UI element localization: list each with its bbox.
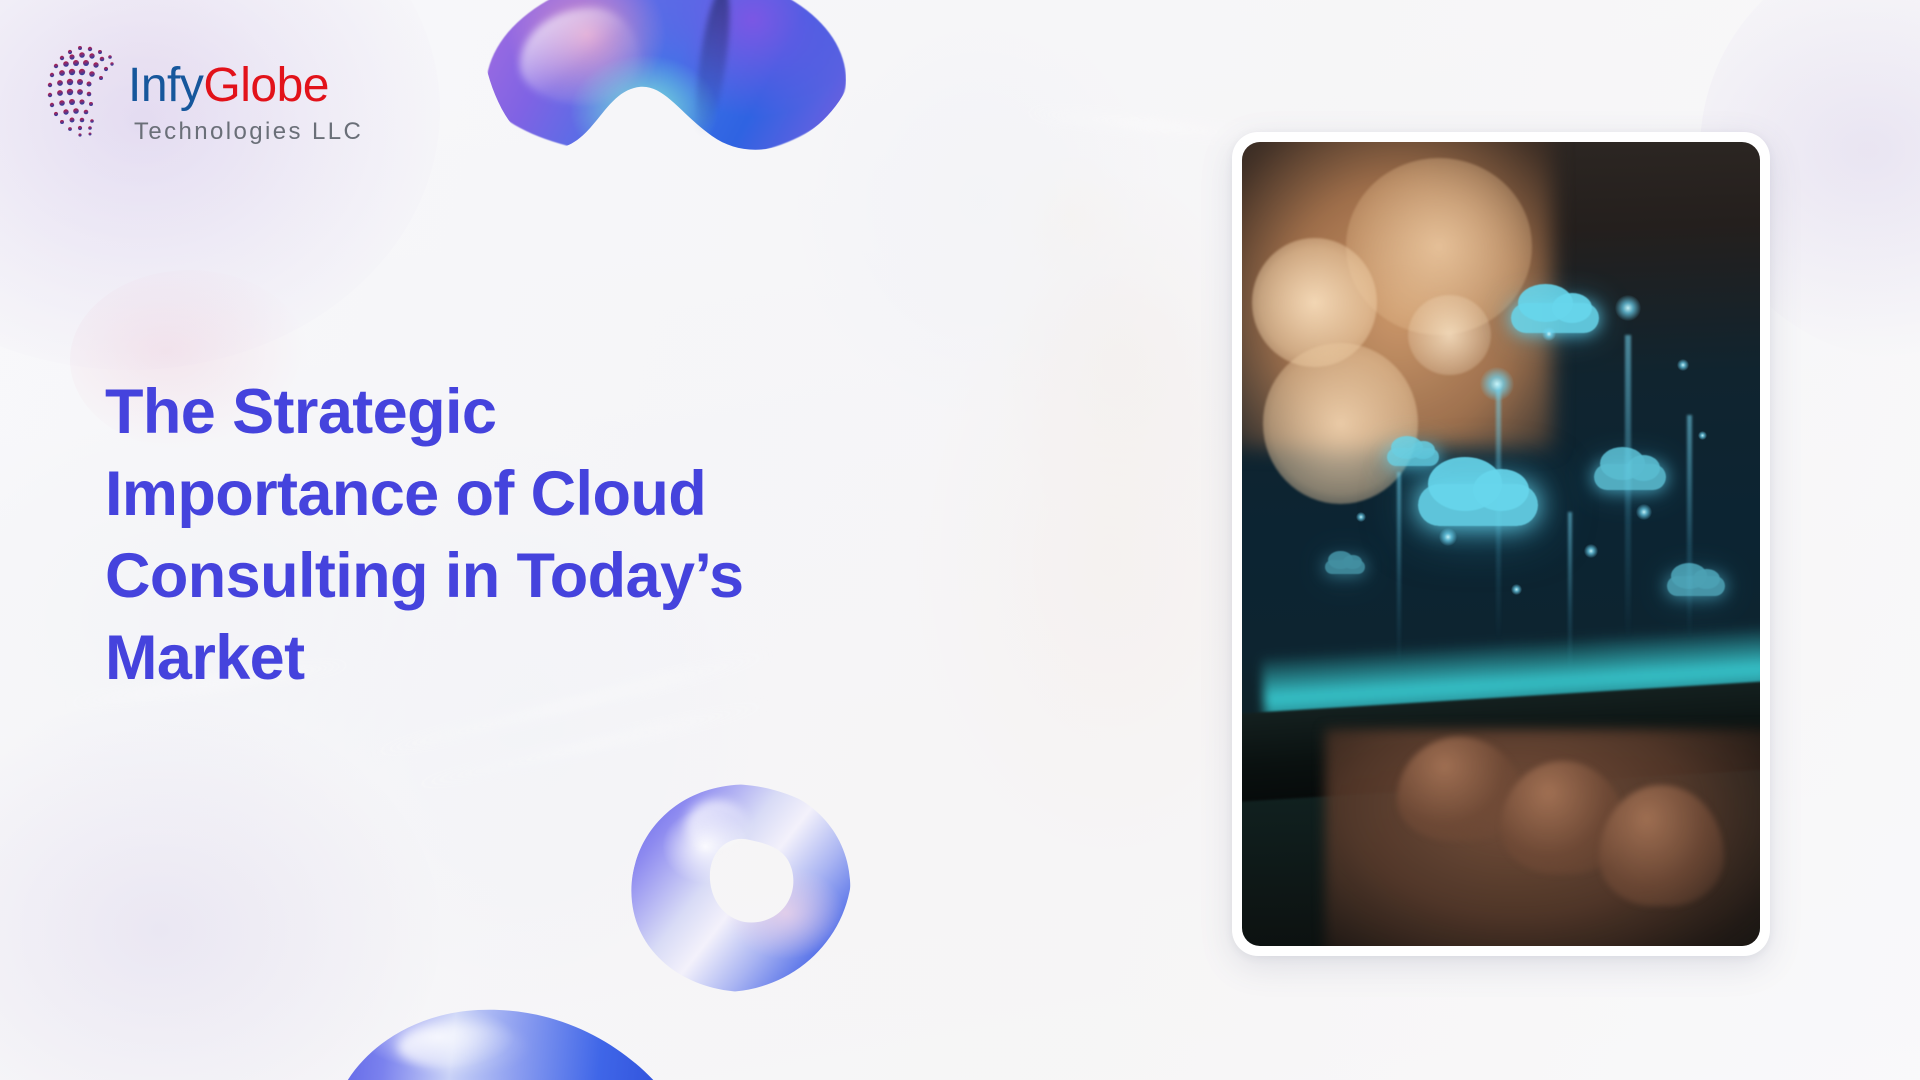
sparkle-icon xyxy=(1615,295,1641,321)
cloud-icon xyxy=(1325,560,1365,574)
sparkle-icon xyxy=(1511,584,1522,595)
cloud-icon xyxy=(1387,448,1439,466)
cloud-icon xyxy=(1511,303,1599,333)
dotted-globe-icon xyxy=(42,40,142,140)
poster-canvas: InfyGlobe Technologies LLC The Strategic… xyxy=(0,0,1920,1080)
brand-tagline: Technologies LLC xyxy=(134,118,363,146)
brand-logo[interactable]: InfyGlobe Technologies LLC xyxy=(42,34,352,152)
sparkle-icon xyxy=(1677,359,1689,371)
cloud-icon xyxy=(1594,464,1666,490)
sparkle-icon xyxy=(1636,504,1652,520)
sparkle-icon xyxy=(1584,544,1598,558)
sparkle-icon xyxy=(1356,512,1366,522)
sparkle-icon xyxy=(1439,528,1457,546)
blob-highlight xyxy=(398,1024,528,1070)
light-beam xyxy=(1397,472,1401,665)
photo-bokeh xyxy=(1408,295,1491,375)
sparkle-icon xyxy=(1542,327,1556,341)
brand-name-part2: Globe xyxy=(203,59,329,112)
cloud-icon xyxy=(1418,484,1538,526)
blob-highlight xyxy=(686,800,748,852)
light-beam xyxy=(1687,415,1692,640)
brand-wordmark: InfyGlobe xyxy=(128,62,329,110)
brand-name-part1: Infy xyxy=(128,59,203,112)
cloud-technology-photo xyxy=(1242,142,1760,946)
photo-bokeh xyxy=(1263,343,1418,504)
sparkle-icon xyxy=(1698,431,1707,440)
cloud-technology-card[interactable] xyxy=(1232,132,1770,956)
cloud-icon xyxy=(1667,576,1725,596)
page-title: The Strategic Importance of Cloud Consul… xyxy=(105,372,1035,700)
